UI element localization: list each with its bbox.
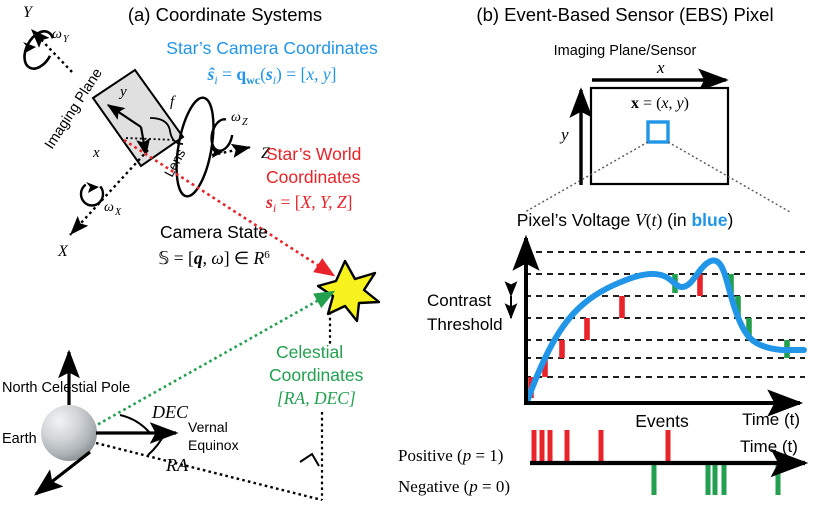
imaging-plane-label: Imaging Plane — [42, 66, 106, 152]
camera-coordinates-formula: ŝi = qwc(si) = [x, y] — [207, 64, 337, 87]
ra-label: RA — [165, 455, 189, 475]
celestial-coordinates-label: Celestial Coordinates [RA, DEC] — [269, 312, 364, 500]
omega-Y-rotation: ω Y — [19, 26, 70, 73]
events-negative-label: Negative (p = 0) — [398, 477, 510, 496]
axis-X: X — [57, 150, 148, 260]
omega-X-sub: X — [114, 207, 122, 218]
events-plot-title: Events — [635, 411, 689, 431]
omega-X-rotation: ω X — [81, 182, 122, 218]
north-celestial-pole-label: North Celestial Pole — [2, 380, 130, 396]
events-positive-ticks — [534, 430, 668, 462]
omega-Z-sub: Z — [242, 117, 248, 128]
voltage-plot-title: Pixel’s Voltage V(t) (in blue) — [517, 210, 734, 230]
dec-label: DEC — [151, 402, 189, 422]
celestial-coordinates-formula: [RA, DEC] — [277, 388, 356, 408]
axis-label-Y: Y — [23, 4, 34, 21]
sensor-caption: Imaging Plane/Sensor — [554, 43, 697, 59]
world-coordinates-formula: si = [X, Y, Z] — [265, 192, 353, 215]
figure-root: (a) Coordinate Systems Y ω Y Imaging Pla… — [0, 0, 825, 512]
plane-axis-y-label: y — [118, 84, 127, 100]
world-coordinates-line1: Star’s World — [266, 144, 361, 164]
contrast-threshold-line2: Threshold — [427, 315, 503, 334]
vernal-equinox: Vernal Equinox — [96, 419, 239, 453]
north-celestial-pole: North Celestial Pole — [2, 352, 130, 405]
ra-angle: RA — [148, 433, 189, 475]
celestial-coordinates-line1: Celestial — [276, 342, 343, 362]
lens-label: Lens — [161, 146, 188, 179]
plane-axis-x-label: x — [92, 145, 100, 161]
sensor-axis-y-label: y — [559, 125, 569, 144]
focal-length-label: f — [170, 94, 176, 110]
events-x-axis-label: Time (t) — [740, 437, 798, 456]
camera-state-line1: Camera State — [160, 222, 268, 242]
voltage-curve — [527, 261, 804, 402]
sensor-diagram: Imaging Plane/Sensor x y x = (x, y) — [525, 43, 790, 212]
omega-Y-label: ω — [52, 27, 62, 42]
contrast-threshold-line1: Contrast — [427, 291, 492, 310]
panel-b: (b) Event-Based Sensor (EBS) Pixel Imagi… — [398, 4, 805, 496]
panel-a: (a) Coordinate Systems Y ω Y Imaging Pla… — [2, 4, 379, 500]
axis-label-X: X — [57, 243, 69, 260]
camera-coordinates-label: Star’s Camera Coordinates ŝi = qwc(si) =… — [166, 38, 378, 87]
events-negative-ticks — [654, 464, 778, 495]
omega-X-label: ω — [104, 200, 114, 215]
voltage-x-axis-label: Time (t) — [742, 410, 800, 429]
imaging-plane: Imaging Plane y x — [42, 66, 183, 166]
axis-Z: Z — [212, 145, 271, 162]
earth-label: Earth — [2, 431, 37, 447]
sensor-axis-x-label: x — [656, 58, 665, 77]
vernal-equinox-line1: Vernal — [188, 419, 228, 435]
events-positive-label: Positive (p = 1) — [398, 446, 503, 465]
world-coordinates-line2: Coordinates — [266, 167, 361, 187]
star-icon — [318, 261, 379, 321]
camera-state-formula: 𝕊 = [q, ω] ∈ R6 — [158, 248, 270, 268]
omega-Z-label: ω — [231, 110, 241, 125]
world-coordinates-label: Star’s World Coordinates si = [X, Y, Z] — [265, 144, 361, 215]
panel-b-title: (b) Event-Based Sensor (EBS) Pixel — [476, 4, 773, 25]
omega-Y-sub: Y — [63, 34, 70, 45]
contrast-threshold-annotation: Contrast Threshold — [427, 291, 511, 334]
celestial-coordinates-line2: Coordinates — [269, 365, 364, 385]
threshold-gridlines — [525, 252, 805, 377]
panel-a-title: (a) Coordinate Systems — [128, 4, 322, 25]
camera-coordinates-line1: Star’s Camera Coordinates — [166, 38, 378, 58]
earth: Earth — [2, 405, 97, 461]
vernal-equinox-line2: Equinox — [188, 437, 239, 453]
pixel-coordinate-label: x = (x, y) — [631, 95, 689, 112]
camera-state-label: Camera State 𝕊 = [q, ω] ∈ R6 — [158, 222, 270, 268]
voltage-plot: Pixel’s Voltage V(t) (in blue) Contrast … — [427, 210, 805, 429]
